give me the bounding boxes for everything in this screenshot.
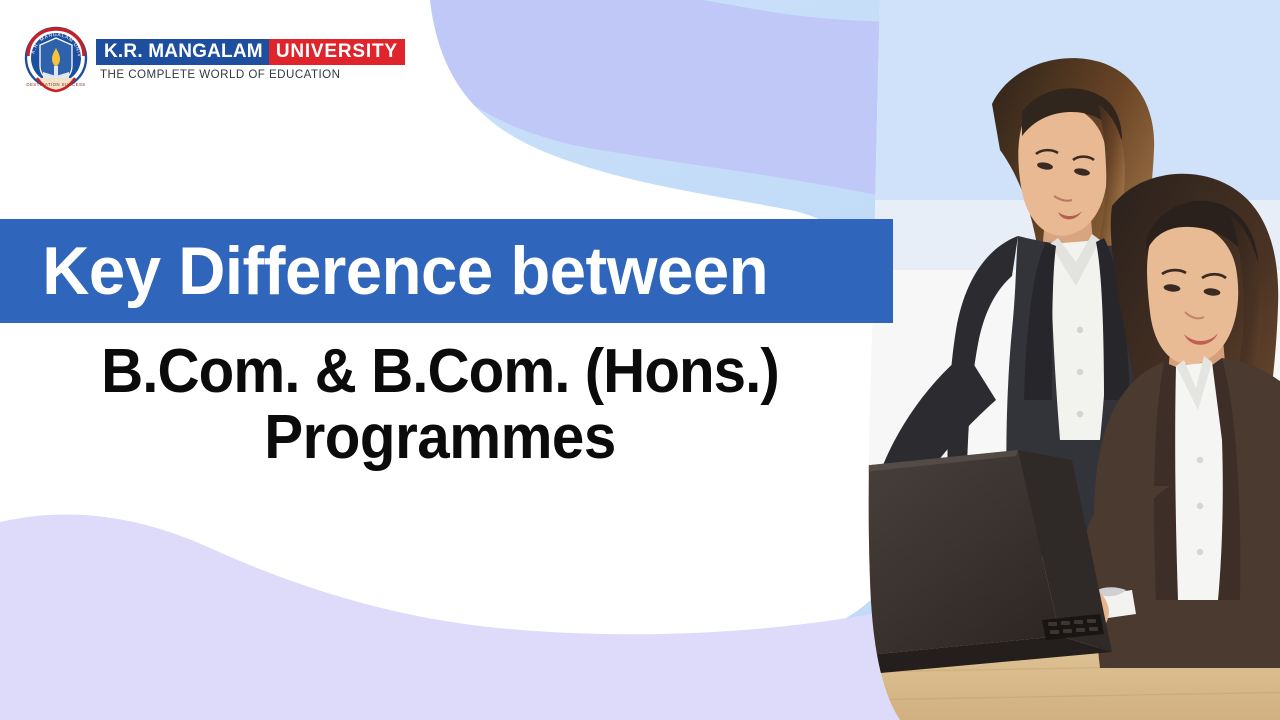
- svg-text:DESTINATION SUCCESS: DESTINATION SUCCESS: [26, 82, 85, 87]
- headline-subtitle: B.Com. & B.Com. (Hons.) Programmes: [0, 340, 880, 473]
- university-logo[interactable]: DESTINATION SUCCESS K.R. MANGALAM UNIVER…: [24, 26, 344, 94]
- poster-canvas: DESTINATION SUCCESS K.R. MANGALAM UNIVER…: [0, 0, 1280, 720]
- headline-subtitle-line-1: B.Com. & B.Com. (Hons.): [26, 340, 853, 403]
- logo-tagline: THE COMPLETE WORLD OF EDUCATION: [96, 68, 344, 81]
- logo-name-primary: K.R. MANGALAM: [96, 39, 269, 65]
- headline-band: Key Difference between: [0, 219, 893, 323]
- university-crest-icon: DESTINATION SUCCESS K.R. MANGALAM UNIVER…: [24, 26, 88, 94]
- logo-name-secondary: UNIVERSITY: [269, 39, 405, 65]
- headline-subtitle-line-2: Programmes: [26, 403, 853, 472]
- logo-name-bar: K.R. MANGALAM UNIVERSITY: [96, 39, 344, 65]
- logo-text-lockup: K.R. MANGALAM UNIVERSITY THE COMPLETE WO…: [96, 39, 344, 81]
- headline-band-text: Key Difference between: [0, 237, 768, 305]
